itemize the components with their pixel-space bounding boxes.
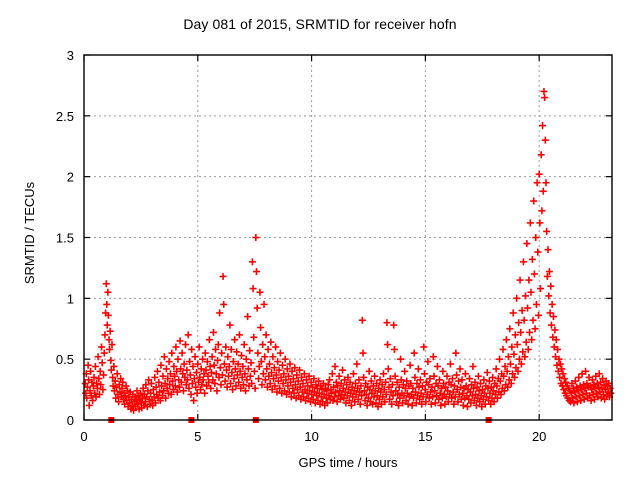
y-tick-label: 3 <box>67 48 74 63</box>
data-point-plus <box>104 289 111 296</box>
data-point-plus <box>593 390 600 397</box>
data-point-plus <box>101 331 108 338</box>
data-point-plus <box>536 219 543 226</box>
data-point-plus <box>104 322 111 329</box>
data-point-plus <box>383 319 390 326</box>
data-point-plus <box>244 313 251 320</box>
data-point-plus <box>503 336 510 343</box>
data-point-plus <box>560 386 567 393</box>
data-point-plus <box>537 285 544 292</box>
data-point-plus <box>475 373 482 380</box>
data-point-plus <box>562 379 569 386</box>
data-point-plus <box>350 370 357 377</box>
data-point-plus <box>353 361 360 368</box>
data-point-plus <box>390 322 397 329</box>
data-point-plus <box>489 374 496 381</box>
data-point-plus <box>545 292 552 299</box>
data-point-plus <box>220 301 227 308</box>
x-tick-label: 20 <box>532 429 546 444</box>
data-point-plus <box>484 369 491 376</box>
x-tick-label: 5 <box>194 429 201 444</box>
data-point-plus <box>238 352 245 359</box>
data-point-plus <box>172 344 179 351</box>
data-point-plus <box>384 341 391 348</box>
data-point-plus <box>261 301 268 308</box>
y-tick-label: 2 <box>67 170 74 185</box>
data-point-plus <box>256 289 263 296</box>
data-point-plus <box>526 329 533 336</box>
data-point-plus <box>529 256 536 263</box>
data-point-plus <box>252 385 259 392</box>
data-point-plus <box>114 370 121 377</box>
data-point-plus <box>193 369 200 376</box>
data-point-plus <box>277 350 284 357</box>
data-point-plus <box>179 350 186 357</box>
data-point-plus <box>506 325 513 332</box>
data-point-plus <box>360 350 367 357</box>
data-point-plus <box>166 358 173 365</box>
data-point-plus <box>97 368 104 375</box>
data-point-plus <box>407 362 414 369</box>
data-point-plus <box>391 346 398 353</box>
data-point-plus <box>98 344 105 351</box>
data-point-plus <box>547 283 554 290</box>
data-point-plus <box>421 370 428 377</box>
data-point-plus <box>464 403 471 410</box>
data-point-plus <box>252 234 259 241</box>
data-point-plus <box>255 375 262 382</box>
y-tick-label: 1 <box>67 291 74 306</box>
data-point-plus <box>366 368 373 375</box>
data-point-plus <box>190 397 197 404</box>
data-point-plus <box>459 376 466 383</box>
data-point-plus <box>174 356 181 363</box>
data-point-plus <box>326 376 333 383</box>
data-point-plus <box>272 344 279 351</box>
x-tick-label: 10 <box>304 429 318 444</box>
data-point-plus <box>220 273 227 280</box>
data-point-plus <box>415 365 422 372</box>
data-point-plus <box>183 367 190 374</box>
data-point-plus <box>214 357 221 364</box>
data-point-plus <box>539 122 546 129</box>
x-tick-label: 15 <box>418 429 432 444</box>
data-point-plus <box>202 350 209 357</box>
data-point-plus <box>192 353 199 360</box>
data-point-plus <box>574 398 581 405</box>
data-point-plus <box>581 396 588 403</box>
data-point-plus <box>92 363 99 370</box>
data-point-plus <box>231 336 238 343</box>
data-point-plus <box>182 341 189 348</box>
data-point-plus <box>496 356 503 363</box>
data-point-plus <box>103 301 110 308</box>
data-point-plus <box>261 353 268 360</box>
data-point-plus <box>452 350 459 357</box>
data-point-plus <box>535 312 542 319</box>
data-point-plus <box>211 362 218 369</box>
data-point-plus <box>263 331 270 338</box>
data-point-plus <box>151 374 158 381</box>
data-point-plus <box>201 390 208 397</box>
data-point-plus <box>336 373 343 380</box>
data-point-plus <box>577 397 584 404</box>
data-point-plus <box>196 344 203 351</box>
data-point-plus <box>163 365 170 372</box>
data-point-plus <box>254 350 261 357</box>
y-tick-label: 0.5 <box>56 352 74 367</box>
data-point-plus <box>250 285 257 292</box>
data-point-plus <box>556 374 563 381</box>
data-point-plus <box>538 151 545 158</box>
data-point-plus <box>466 375 473 382</box>
data-point-plus <box>248 359 255 366</box>
data-point-plus <box>455 378 462 385</box>
data-point-plus <box>510 309 517 316</box>
data-point-plus <box>194 390 201 397</box>
data-point-plus <box>99 359 106 366</box>
data-point-plus <box>541 94 548 101</box>
data-point-plus <box>216 309 223 316</box>
data-point-plus <box>85 362 92 369</box>
data-point-plus <box>579 391 586 398</box>
data-point-plus <box>573 393 580 400</box>
data-point-plus <box>218 350 225 357</box>
data-point-plus <box>251 368 258 375</box>
data-point-plus <box>420 344 427 351</box>
plot-svg: 00.511.522.5305101520 <box>0 0 640 480</box>
data-point-plus <box>254 305 261 312</box>
data-point-plus <box>243 356 250 363</box>
data-point-plus <box>401 368 408 375</box>
data-point-plus <box>241 341 248 348</box>
data-point-plus <box>513 295 520 302</box>
data-point-plus <box>469 363 476 370</box>
data-point-plus <box>332 363 339 370</box>
data-point-plus <box>154 368 161 375</box>
data-point-plus <box>527 289 534 296</box>
data-point-plus <box>218 381 225 388</box>
data-point-plus <box>168 350 175 357</box>
data-point-plus <box>100 371 107 378</box>
data-point-plus <box>576 392 583 399</box>
data-point-plus <box>253 268 260 275</box>
y-tick-label: 0 <box>67 413 74 428</box>
data-point-plus <box>523 240 530 247</box>
data-point-plus <box>550 313 557 320</box>
data-point-plus <box>532 234 539 241</box>
data-point-plus <box>531 271 538 278</box>
y-tick-label: 2.5 <box>56 109 74 124</box>
data-point-plus <box>411 350 418 357</box>
data-point-plus <box>282 356 289 363</box>
data-point-plus <box>217 364 224 371</box>
x-tick-label: 0 <box>80 429 87 444</box>
data-points <box>82 88 615 423</box>
data-point-plus <box>462 370 469 377</box>
data-point-plus <box>453 371 460 378</box>
data-point-plus <box>553 362 560 369</box>
data-point-plus <box>359 317 366 324</box>
data-point-plus <box>371 373 378 380</box>
data-point-plus <box>499 346 506 353</box>
data-point-plus <box>436 376 443 383</box>
data-point-plus <box>236 331 243 338</box>
data-point-plus <box>213 387 220 394</box>
data-point-plus <box>532 325 539 332</box>
data-point-plus <box>177 337 184 344</box>
data-point-plus <box>548 322 555 329</box>
data-point-plus <box>439 368 446 375</box>
data-point-plus <box>259 341 266 348</box>
data-point-plus <box>107 328 114 335</box>
data-point-plus <box>257 324 264 331</box>
data-point-plus <box>101 350 108 357</box>
data-point-plus <box>385 365 392 372</box>
data-point-plus <box>267 339 274 346</box>
data-point-plus <box>188 346 195 353</box>
data-point-plus <box>210 329 217 336</box>
data-point-plus <box>530 317 537 324</box>
data-point-plus <box>161 353 168 360</box>
data-point-plus <box>540 88 547 95</box>
data-point-plus <box>226 322 233 329</box>
data-point-plus <box>380 370 387 377</box>
data-point-plus <box>542 137 549 144</box>
data-point-plus <box>543 228 550 235</box>
data-point-plus <box>522 292 529 299</box>
data-point-plus <box>460 402 467 409</box>
data-point-plus <box>456 365 463 372</box>
data-point-plus <box>575 374 582 381</box>
data-point-plus <box>561 375 568 382</box>
data-point-plus <box>434 363 441 370</box>
data-point-plus <box>534 249 541 256</box>
data-point-plus <box>246 347 253 354</box>
data-point-plus <box>527 219 534 226</box>
data-point-plus <box>517 277 524 284</box>
data-point-plus <box>493 365 500 372</box>
data-point-plus <box>329 370 336 377</box>
data-point-plus <box>547 309 554 316</box>
data-point-plus <box>520 258 527 265</box>
x-axis-label: GPS time / hours <box>84 455 612 470</box>
data-point-plus <box>157 362 164 369</box>
data-point-plus <box>206 336 213 343</box>
y-tick-label: 1.5 <box>56 231 74 246</box>
data-point-plus <box>187 391 194 398</box>
data-point-plus <box>557 361 564 368</box>
data-point-plus <box>262 376 269 383</box>
data-point-plus <box>447 361 454 368</box>
data-point-plus <box>543 179 550 186</box>
data-point-plus <box>339 367 346 374</box>
data-point-plus <box>103 280 110 287</box>
data-point-plus <box>480 376 487 383</box>
data-point-plus <box>530 198 537 205</box>
data-point-plus <box>86 402 93 409</box>
chart-container: Day 081 of 2015, SRMTID for receiver hof… <box>0 0 640 480</box>
data-point-plus <box>536 171 543 178</box>
data-point-plus <box>397 356 404 363</box>
data-point-plus <box>250 334 257 341</box>
data-point-plus <box>249 258 256 265</box>
data-point-plus <box>185 331 192 338</box>
data-point-plus <box>545 246 552 253</box>
data-point-plus <box>525 277 532 284</box>
data-point-plus <box>538 207 545 214</box>
data-point-plus <box>551 326 558 333</box>
data-point-plus <box>279 362 286 369</box>
data-point-plus <box>549 301 556 308</box>
data-point-plus <box>107 357 114 364</box>
data-point-plus <box>540 188 547 195</box>
data-point-plus <box>265 346 272 353</box>
